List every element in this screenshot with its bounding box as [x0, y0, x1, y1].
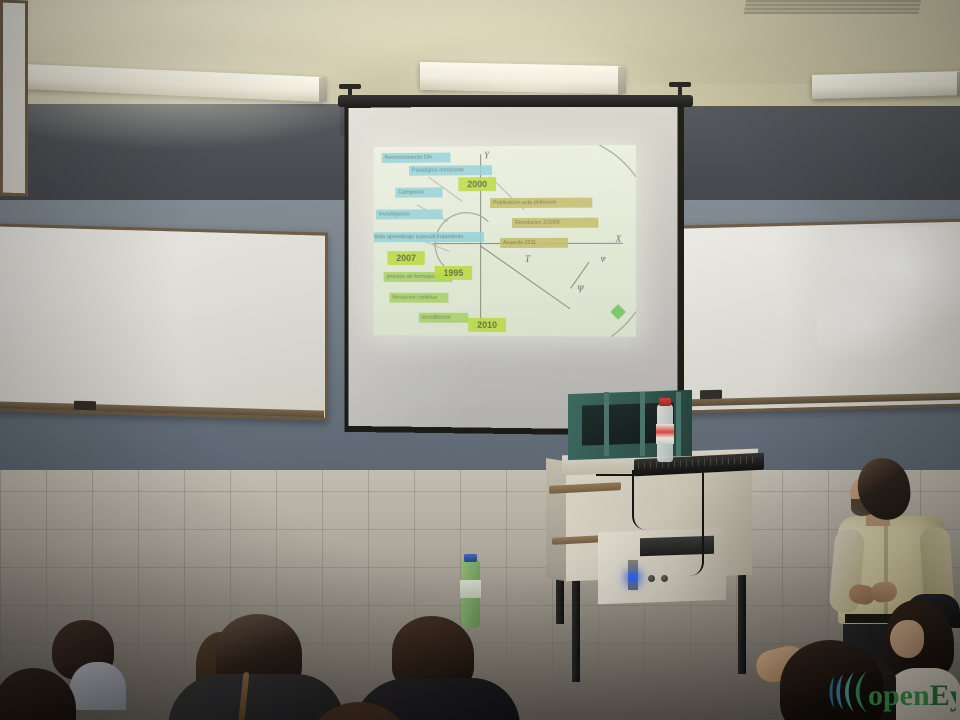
fluorescent-fixture-right-icon [812, 71, 960, 99]
projected-slide: Y X T Ψ Ψ τ Reconocimiento DH Paradigma … [374, 145, 636, 337]
cart-leg-front-right [738, 566, 746, 674]
crate-bar-2 [640, 392, 645, 456]
slide-label-blue-0: Reconocimiento DH [382, 153, 451, 164]
whiteboard-glare-secondary [817, 282, 937, 365]
slide-label-blue-2: Categorias [395, 187, 442, 197]
water-bottle-green-cap [464, 554, 477, 562]
slide-label-blue-1: Paradigma dominante [409, 165, 492, 176]
water-bottle-cap [659, 398, 671, 406]
slide-y-axis-label: Y [484, 150, 489, 160]
crate-bar-3 [676, 392, 681, 456]
whiteboard-eraser [74, 401, 96, 411]
attendee-center-man-shirt [168, 674, 344, 720]
cart-leg-front-left [572, 572, 580, 682]
fluorescent-fixture-center-icon [420, 62, 625, 94]
screen-roller-bar [338, 95, 693, 107]
presenter-shirt-placket [884, 522, 888, 622]
slide-year-2010: 2010 [468, 318, 506, 332]
water-bottle-green-label [460, 580, 481, 598]
slide-year-2007: 2007 [388, 251, 425, 265]
pc-power-button[interactable] [648, 575, 655, 582]
slide-year-1995: 1995 [435, 266, 473, 280]
slide-label-khaki-1: Resolucion 2/2009 [512, 218, 598, 228]
cable-run-2 [688, 468, 704, 576]
slide-year-2000: 2000 [458, 177, 496, 191]
lecture-room-photo: Y X T Ψ Ψ τ Reconocimiento DH Paradigma … [0, 0, 960, 720]
attendee-back-left-woman-top [70, 662, 126, 710]
whiteboard-left-panel [0, 0, 28, 196]
slide-symbol-psi: Ψ [577, 284, 583, 294]
slide-label-blue-3: Investigacion [376, 209, 443, 219]
whiteboard-right-eraser [700, 390, 722, 400]
attendee-right-woman-face [890, 620, 924, 658]
openeya-wordmark: openEyA [868, 679, 956, 712]
pc-power-led-icon [629, 573, 637, 582]
cable-run-3 [596, 452, 640, 476]
crate-bar-1 [604, 392, 609, 456]
water-bottle-label [656, 424, 674, 444]
openeya-arcs-icon [830, 671, 868, 713]
slide-symbol-T: T [525, 254, 530, 264]
slide-symbol-psi-hat: Ψ [600, 256, 605, 264]
slide-label-khaki-0: Publicacion acta definicion [490, 198, 592, 209]
slide-label-green-2: acreditacion [419, 313, 468, 323]
projection-screen: Y X T Ψ Ψ τ Reconocimiento DH Paradigma … [348, 104, 677, 430]
slide-label-khaki-2: Acuerdo 2011 [500, 238, 568, 248]
whiteboard-left [0, 223, 328, 420]
pc-reset-button[interactable] [661, 575, 668, 582]
whiteboard-right [680, 218, 960, 413]
ceiling-vent [744, 0, 922, 14]
slide-label-green-1: formacion continua [389, 293, 448, 303]
cable-run-1 [632, 470, 660, 530]
slide-label-blue-4: Nodo aprendizaje especial tratamiento [374, 232, 484, 242]
openeya-watermark: openEyA [828, 668, 956, 716]
